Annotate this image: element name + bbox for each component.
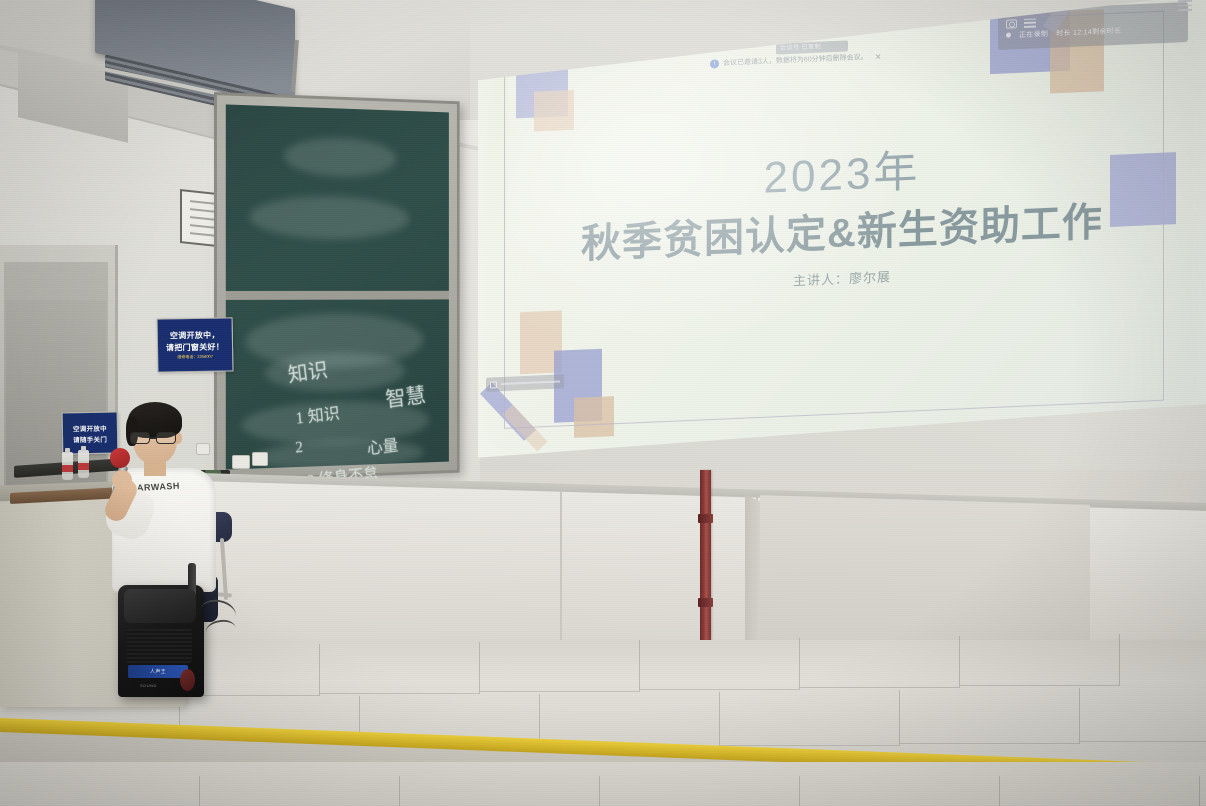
screenshot-root: 知识智慧1 知识2心量3 修身不怠 空调开放中， 请把门窗关好！ 维修电话：23… [0, 0, 1206, 806]
slide-content: 2023年 秋季贫困认定&新生资助工作 主讲人：廖尔展 [478, 0, 1206, 460]
water-bottle-1[interactable] [62, 452, 73, 480]
pa-speaker-top [124, 589, 196, 623]
sign-line-2: 请把门窗关好！ [166, 341, 224, 353]
pa-speaker-badge: SOUND [140, 683, 157, 688]
corner-menu-icon[interactable] [1178, 0, 1192, 11]
sign-ac-notice-large: 空调开放中， 请把门窗关好！ 维修电话：2356007 [157, 317, 234, 372]
wall-socket-2[interactable] [252, 452, 268, 466]
microphone-icon [110, 448, 130, 468]
recording-toolbar[interactable]: 正在录制 时长 12:14剩余时长 [998, 2, 1188, 50]
blackboard: 知识智慧1 知识2心量3 修身不怠 [214, 92, 460, 482]
chalk-text-3: 2 [295, 439, 304, 457]
stop-icon[interactable] [490, 381, 497, 388]
pa-speaker-label: 人声王 [128, 665, 188, 678]
pa-speaker-wheel [180, 669, 195, 691]
meeting-notification-text: 会议已邀请3人，数据将为60分钟后删除会议。 [723, 52, 868, 68]
info-icon: i [710, 59, 719, 68]
chalk-text-1: 智慧 [384, 378, 427, 414]
presenter-person: CARWASH [98, 396, 226, 606]
camera-icon[interactable] [1006, 19, 1017, 28]
screen-surface: 2023年 秋季贫困认定&新生资助工作 主讲人：廖尔展 会议号 已复制 i 会议… [478, 0, 1206, 460]
sign-line-1: 空调开放中， [170, 330, 220, 342]
chalk-text-4: 心量 [366, 431, 399, 459]
blackboard-surface: 知识智慧1 知识2心量3 修身不怠 [226, 104, 449, 469]
lower-floor [0, 762, 1206, 806]
glasses-icon [130, 432, 180, 444]
wall-socket[interactable] [232, 455, 250, 469]
record-dot-icon [1006, 33, 1011, 38]
recording-status-label: 正在录制 [1019, 28, 1048, 39]
pa-speaker: 人声王 SOUND [118, 585, 204, 697]
toolbar-slider[interactable] [501, 381, 560, 385]
presenter-hand [112, 470, 132, 490]
chalk-text-2: 1 知识 [294, 399, 340, 428]
chalk-text-0: 知识 [286, 354, 329, 389]
menu-icon[interactable] [1024, 18, 1036, 28]
projection-screen: 2023年 秋季贫困认定&新生资助工作 主讲人：廖尔展 会议号 已复制 i 会议… [478, 0, 1206, 464]
close-icon[interactable]: ✕ [875, 52, 882, 61]
sign-phone: 维修电话：2356007 [177, 354, 213, 361]
pa-speaker-grill [126, 629, 192, 663]
blackboard-divider [226, 291, 449, 300]
water-bottle-2[interactable] [78, 450, 89, 478]
recording-duration-label: 时长 12:14剩余时长 [1056, 25, 1121, 38]
